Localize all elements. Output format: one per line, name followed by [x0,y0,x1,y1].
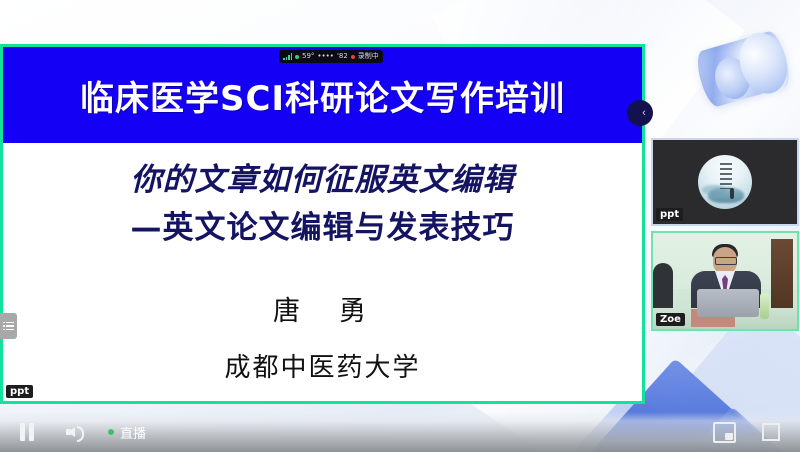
slide-subtitle-line-1: 你的文章如何征服英文编辑 [3,154,642,199]
live-dot-icon [108,429,114,435]
record-dot-red-icon [351,55,355,59]
status-right-text: '82 [337,53,348,60]
participant-tile-ppt[interactable]: ppt [651,138,799,226]
chevron-left-icon: ‹ [642,108,646,119]
status-middle-text: •••• [317,53,334,60]
shared-screen-nameplate: ppt [6,385,33,398]
collapse-panel-button[interactable]: ‹ [627,100,653,126]
participant-list-tab[interactable] [0,313,17,339]
slide-subtitle-line-2: —英文论文编辑与发表技巧 [3,202,642,247]
status-temp-text: 59° [302,53,314,60]
list-icon [3,322,14,331]
participant-nameplate: Zoe [656,313,685,326]
signal-bars-icon [283,53,292,60]
device-status-overlay: 59° •••• '82 录制中 [279,50,383,63]
status-dot-green-icon [295,55,299,59]
slide-title: 临床医学SCI科研论文写作培训 [3,71,642,120]
live-status: 直播 [108,423,146,442]
fullscreen-icon[interactable] [762,423,780,441]
volume-button[interactable] [66,421,90,443]
picture-in-picture-icon[interactable] [713,422,736,443]
shared-screen-tile[interactable]: 临床医学SCI科研论文写作培训 你的文章如何征服英文编辑 —英文论文编辑与发表技… [0,44,645,404]
player-control-bar: 直播 [0,412,800,452]
slide-author: 唐 勇 [3,289,642,328]
pause-button[interactable] [16,422,38,442]
participant-tile-zoe[interactable]: Zoe [651,231,799,331]
recording-label: 录制中 [358,53,379,60]
slide-organization: 成都中医药大学 [3,347,642,384]
presentation-slide: 临床医学SCI科研论文写作培训 你的文章如何征服英文编辑 —英文论文编辑与发表技… [3,47,642,401]
control-bar-right-group [713,422,780,443]
participant-nameplate: ppt [656,208,683,221]
ink-painting-avatar [698,155,752,209]
meeting-viewer: 临床医学SCI科研论文写作培训 你的文章如何征服英文编辑 —英文论文编辑与发表技… [0,0,800,452]
live-label: 直播 [120,423,146,442]
